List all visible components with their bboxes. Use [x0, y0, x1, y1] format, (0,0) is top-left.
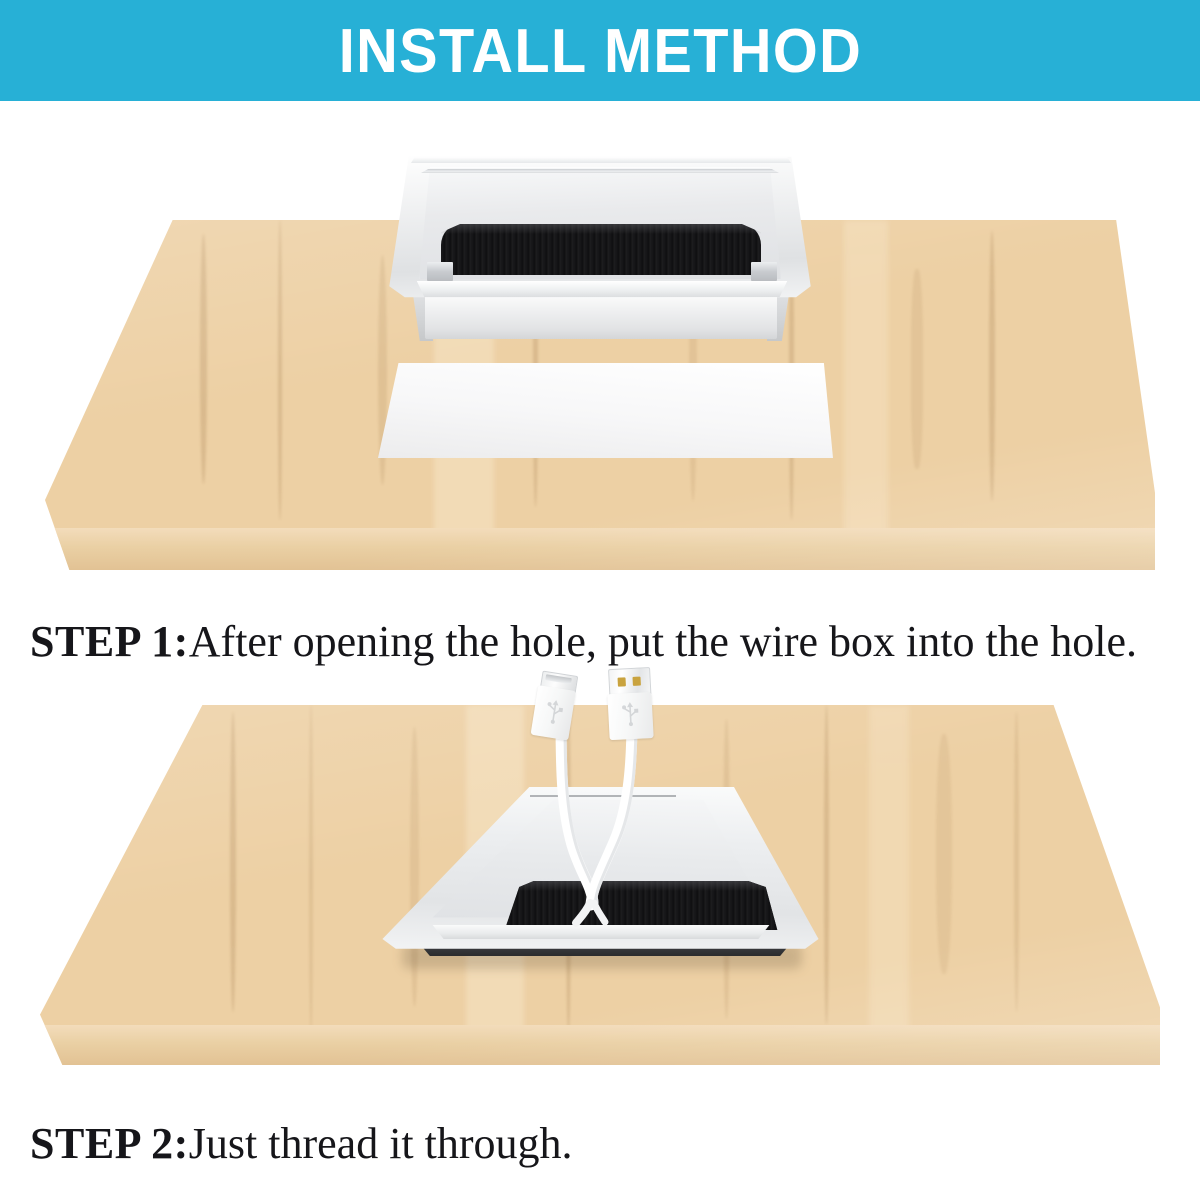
- install-instruction-page: INSTALL METHOD: [0, 0, 1200, 1200]
- cut-hole-plate: [378, 363, 833, 458]
- usb-a-contact-pin: [632, 677, 640, 686]
- grommet-bevel-line: [421, 169, 779, 173]
- usb-a-contact-pin: [618, 677, 626, 686]
- step-1-label: STEP 1:: [30, 617, 189, 666]
- grommet-body-front: [425, 293, 777, 339]
- board-front-edge: [45, 528, 1155, 570]
- step-1-caption: STEP 1:After opening the hole, put the w…: [30, 620, 1137, 664]
- wood-highlight: [844, 220, 888, 570]
- wire-box-grommet-step1: [385, 153, 815, 338]
- usb-a-cable-path: [591, 718, 632, 905]
- usb-trident-icon: [620, 701, 641, 728]
- step-2-caption: STEP 2:Just thread it through.: [30, 1122, 573, 1166]
- step-1-illustration: [0, 110, 1200, 610]
- usb-trident-icon: [542, 698, 566, 727]
- step-2-body: Just thread it through.: [189, 1119, 573, 1168]
- wood-knot: [911, 269, 923, 469]
- grommet-clip-left: [427, 262, 453, 281]
- cable-tail-right: [594, 903, 605, 922]
- micro-usb-connector: [524, 669, 586, 746]
- grommet-top-edge: [411, 157, 791, 163]
- brush-insert: [441, 223, 761, 275]
- grommet-clip-right: [751, 262, 777, 281]
- step-2-label: STEP 2:: [30, 1119, 189, 1168]
- grommet-bottom-rail: [413, 281, 791, 297]
- cable-tail-left: [576, 903, 590, 923]
- wood-grain: [989, 231, 995, 501]
- page-title: INSTALL METHOD: [338, 21, 862, 83]
- step-1-body: After opening the hole, put the wire box…: [189, 617, 1137, 666]
- usb-a-connector: [602, 667, 662, 746]
- header-banner: INSTALL METHOD: [0, 0, 1200, 101]
- brush-top-sheen: [441, 223, 761, 234]
- step-2-illustration: [0, 660, 1200, 1110]
- cable-group: [0, 660, 1200, 1110]
